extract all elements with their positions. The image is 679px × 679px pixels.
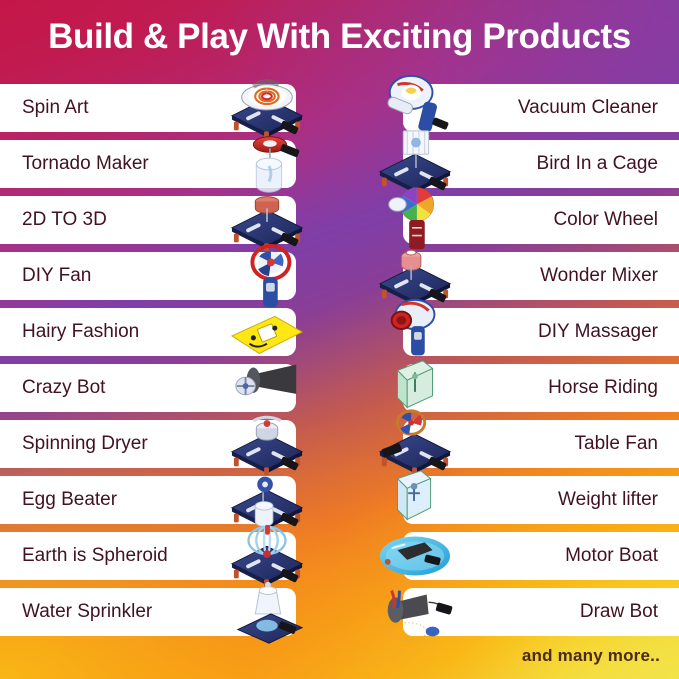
- product-row: Spin ArtVacuum Cleaner: [0, 84, 679, 132]
- product-label: 2D TO 3D: [22, 209, 107, 231]
- product-item-left[interactable]: Tornado Maker: [0, 140, 296, 188]
- product-label: Crazy Bot: [22, 377, 105, 399]
- product-label: Vacuum Cleaner: [518, 97, 658, 119]
- product-item-left[interactable]: Earth is Spheroid: [0, 532, 296, 580]
- product-item-right[interactable]: Vacuum Cleaner: [403, 84, 679, 132]
- product-label: Hairy Fashion: [22, 321, 139, 343]
- product-row: Water SprinklerDraw Bot: [0, 588, 679, 636]
- product-label: Tornado Maker: [22, 153, 149, 175]
- product-row: Tornado MakerBird In a Cage: [0, 140, 679, 188]
- product-list: Spin ArtVacuum CleanerTornado MakerBird …: [0, 84, 679, 644]
- page-title: Build & Play With Exciting Products: [0, 16, 679, 58]
- product-label: Weight lifter: [558, 489, 658, 511]
- product-label: Spin Art: [22, 97, 89, 119]
- product-item-left[interactable]: Egg Beater: [0, 476, 296, 524]
- product-row: Hairy FashionDIY Massager: [0, 308, 679, 356]
- product-label: Bird In a Cage: [537, 153, 658, 175]
- product-item-left[interactable]: Water Sprinkler: [0, 588, 296, 636]
- product-item-left[interactable]: Crazy Bot: [0, 364, 296, 412]
- product-label: Spinning Dryer: [22, 433, 148, 455]
- product-poster: Build & Play With Exciting Products Spin…: [0, 0, 679, 679]
- product-item-right[interactable]: Draw Bot: [403, 588, 679, 636]
- product-item-right[interactable]: Table Fan: [403, 420, 679, 468]
- product-item-right[interactable]: Bird In a Cage: [403, 140, 679, 188]
- product-row: Crazy BotHorse Riding: [0, 364, 679, 412]
- product-item-right[interactable]: Weight lifter: [403, 476, 679, 524]
- product-item-right[interactable]: Horse Riding: [403, 364, 679, 412]
- product-item-left[interactable]: Spinning Dryer: [0, 420, 296, 468]
- product-item-right[interactable]: Color Wheel: [403, 196, 679, 244]
- product-label: Earth is Spheroid: [22, 545, 168, 567]
- product-label: Water Sprinkler: [22, 601, 152, 623]
- product-label: Motor Boat: [565, 545, 658, 567]
- product-row: Spinning DryerTable Fan: [0, 420, 679, 468]
- product-row: 2D TO 3DColor Wheel: [0, 196, 679, 244]
- product-item-right[interactable]: DIY Massager: [403, 308, 679, 356]
- and-many-more-note: and many more..: [522, 646, 660, 666]
- product-row: Earth is SpheroidMotor Boat: [0, 532, 679, 580]
- product-label: Egg Beater: [22, 489, 117, 511]
- product-item-left[interactable]: DIY Fan: [0, 252, 296, 300]
- product-label: DIY Massager: [538, 321, 658, 343]
- product-item-left[interactable]: 2D TO 3D: [0, 196, 296, 244]
- product-label: Draw Bot: [580, 601, 658, 623]
- product-item-right[interactable]: Wonder Mixer: [403, 252, 679, 300]
- product-item-left[interactable]: Spin Art: [0, 84, 296, 132]
- product-label: Horse Riding: [548, 377, 658, 399]
- product-label: Table Fan: [575, 433, 658, 455]
- product-label: DIY Fan: [22, 265, 91, 287]
- product-item-left[interactable]: Hairy Fashion: [0, 308, 296, 356]
- product-label: Wonder Mixer: [540, 265, 658, 287]
- product-row: Egg BeaterWeight lifter: [0, 476, 679, 524]
- product-row: DIY FanWonder Mixer: [0, 252, 679, 300]
- product-label: Color Wheel: [553, 209, 658, 231]
- product-item-right[interactable]: Motor Boat: [403, 532, 679, 580]
